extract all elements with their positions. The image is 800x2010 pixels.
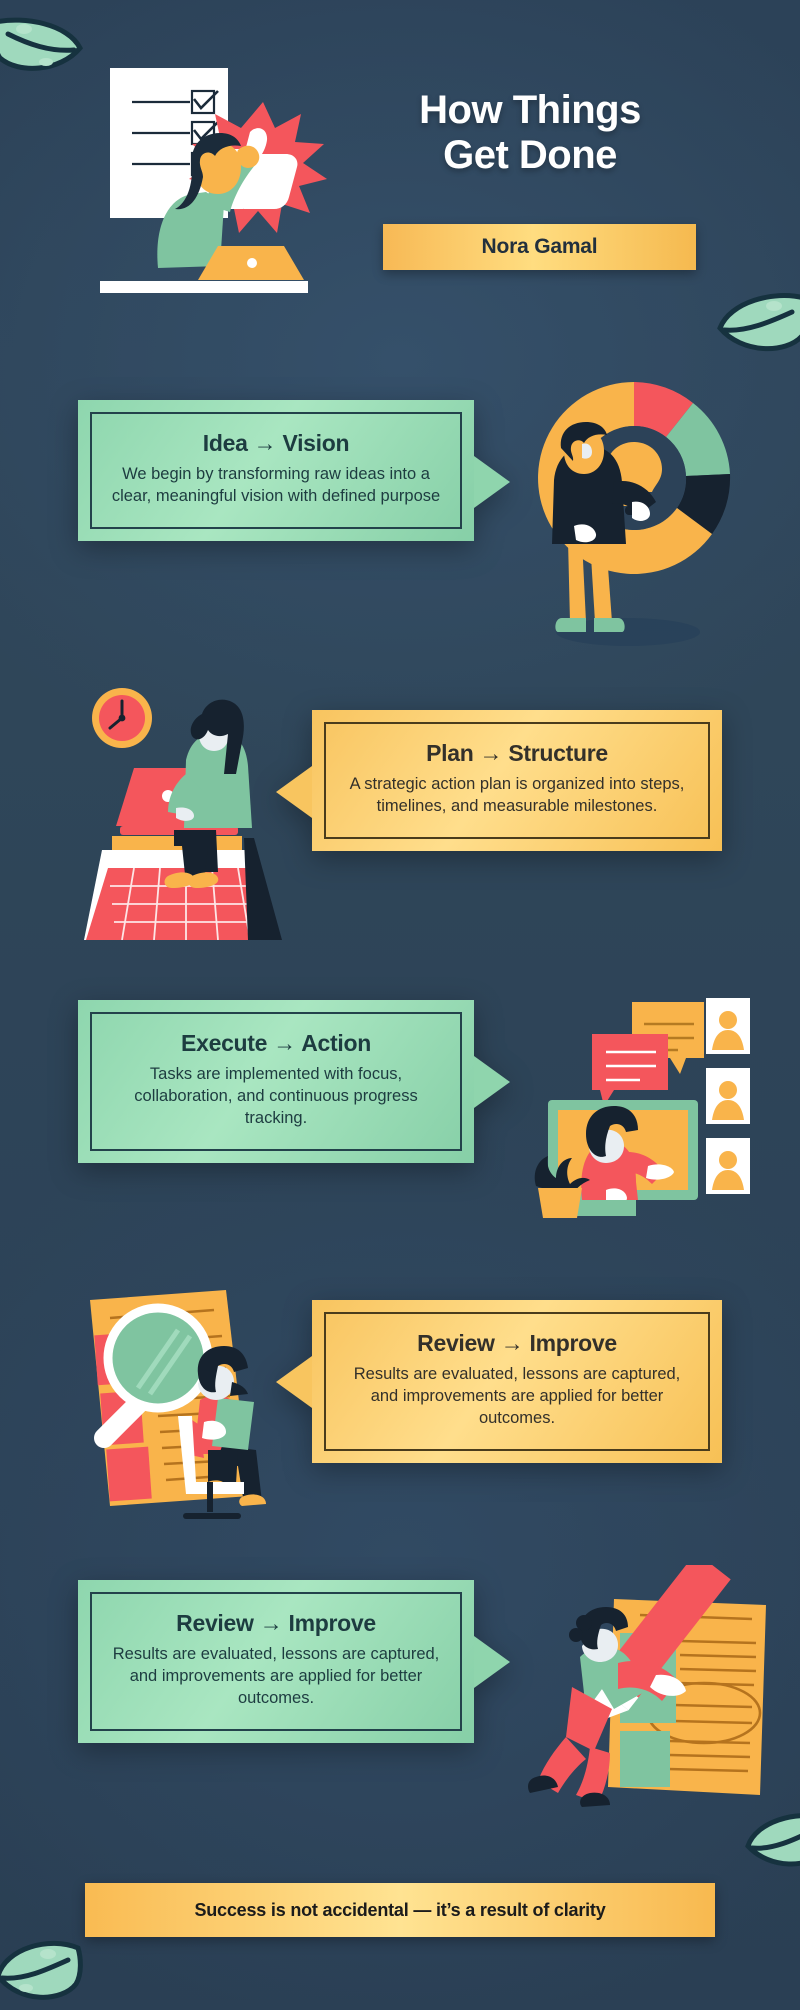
card-idea-vision[interactable]: Idea → Vision We begin by transforming r…: [78, 400, 474, 541]
header-section: How Things Get Done Nora Gamal: [0, 0, 800, 300]
footer-tagline: Success is not accidental — it’s a resul…: [194, 1900, 605, 1921]
pencil-document-person-illustration: [528, 1565, 778, 1820]
checklist-thumbsup-illustration: [100, 68, 350, 298]
card-body: Results are evaluated, lessons are captu…: [110, 1643, 442, 1710]
page-title: How Things Get Done: [370, 88, 690, 178]
author-name: Nora Gamal: [482, 235, 598, 259]
step-review-improve-1: Review → Improve Results are evaluated, …: [0, 1280, 800, 1530]
magnifier-document-person-illustration: [52, 1270, 302, 1525]
card-title: Execute → Action: [110, 1030, 442, 1058]
leaf-bottom-left-icon: [0, 1930, 84, 2010]
card-tail: [474, 1056, 510, 1108]
card-review-improve-1[interactable]: Review → Improve Results are evaluated, …: [312, 1300, 722, 1463]
card-tail: [474, 456, 510, 508]
card-title: Review → Improve: [110, 1610, 442, 1638]
card-execute-action[interactable]: Execute → Action Tasks are implemented w…: [78, 1000, 474, 1163]
donut-chart-lightbulb-person-illustration: [516, 360, 736, 655]
card-body: Results are evaluated, lessons are captu…: [344, 1363, 690, 1430]
footer-tagline-banner: Success is not accidental — it’s a resul…: [85, 1883, 715, 1937]
card-tail: [474, 1636, 510, 1688]
step-plan-structure: Plan → Structure A strategic action plan…: [0, 690, 800, 940]
card-review-improve-2[interactable]: Review → Improve Results are evaluated, …: [78, 1580, 474, 1743]
author-badge: Nora Gamal: [383, 224, 696, 270]
title-line-1: How Things: [370, 88, 690, 133]
card-title: Plan → Structure: [344, 740, 690, 768]
title-line-2: Get Done: [370, 133, 690, 178]
clock-laptop-calendar-person-illustration: [62, 670, 292, 945]
card-body: A strategic action plan is organized int…: [344, 773, 690, 818]
step-review-improve-2: Review → Improve Results are evaluated, …: [0, 1570, 800, 1820]
card-title: Idea → Vision: [110, 430, 442, 458]
card-title: Review → Improve: [344, 1330, 690, 1358]
card-body: Tasks are implemented with focus, collab…: [110, 1063, 442, 1130]
step-execute-action: Execute → Action Tasks are implemented w…: [0, 990, 800, 1240]
video-call-chat-person-illustration: [520, 990, 750, 1225]
step-idea-vision: Idea → Vision We begin by transforming r…: [0, 390, 800, 640]
card-plan-structure[interactable]: Plan → Structure A strategic action plan…: [312, 710, 722, 851]
card-body: We begin by transforming raw ideas into …: [110, 463, 442, 508]
